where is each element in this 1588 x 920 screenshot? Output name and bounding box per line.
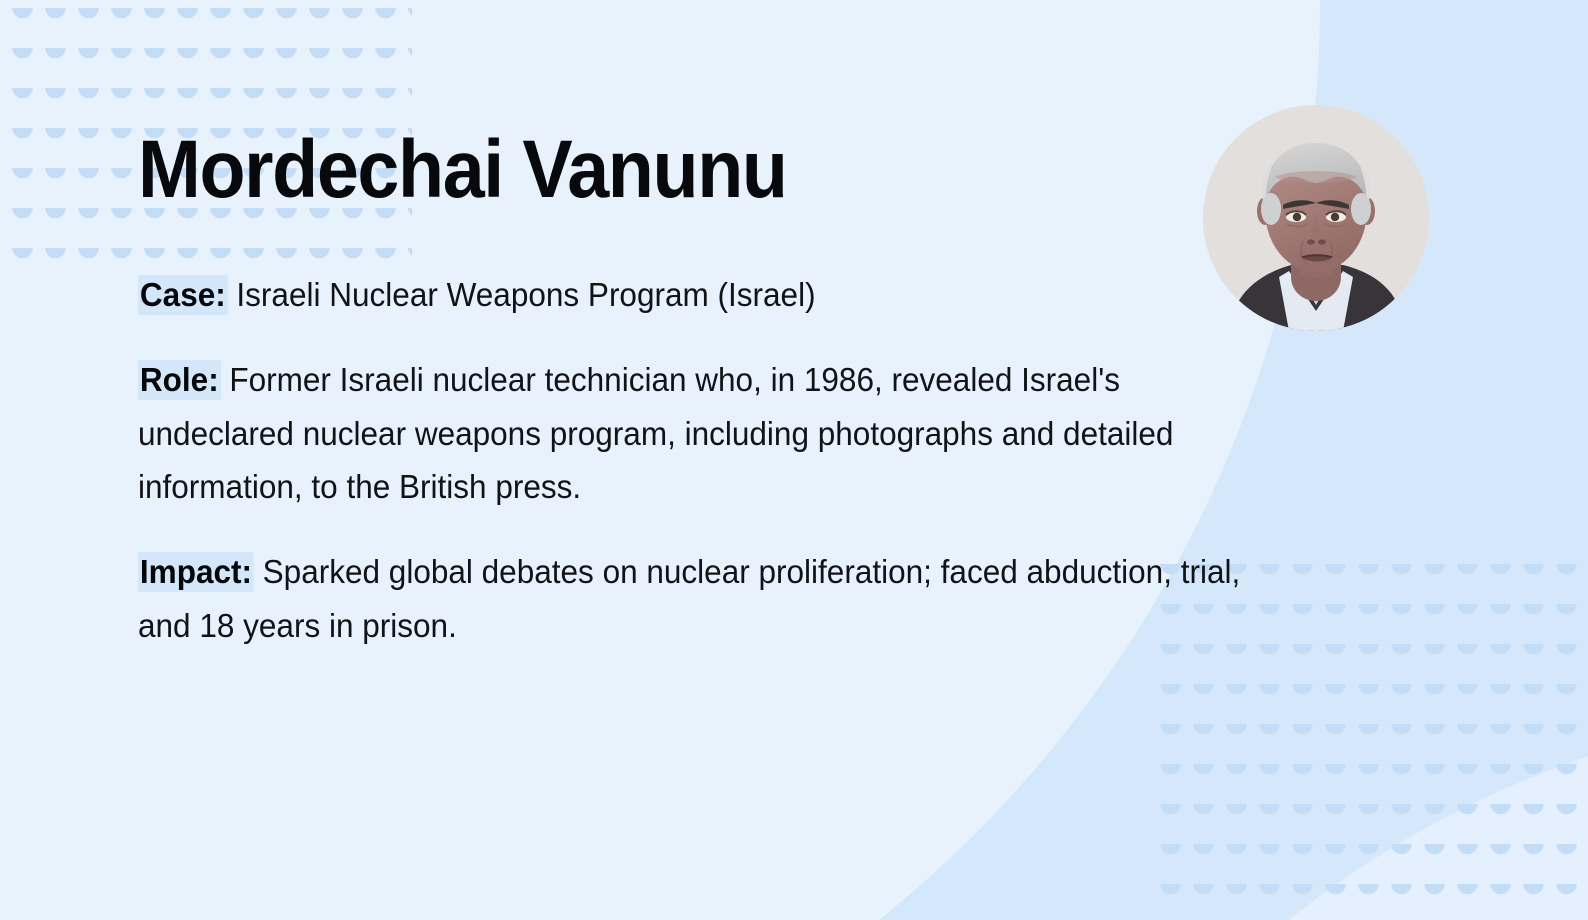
detail-list: Case: Israeli Nuclear Weapons Program (I…	[138, 268, 1328, 653]
profile-card: Mordechai Vanunu Case: Israeli Nuclear W…	[0, 0, 1588, 920]
detail-case: Case: Israeli Nuclear Weapons Program (I…	[138, 268, 1274, 321]
page-title: Mordechai Vanunu	[138, 128, 1233, 212]
detail-role-text: Former Israeli nuclear technician who, i…	[138, 361, 1173, 505]
detail-impact-label: Impact:	[138, 552, 254, 592]
detail-impact: Impact: Sparked global debates on nuclea…	[138, 545, 1274, 652]
detail-role-label: Role:	[138, 360, 221, 400]
card-content: Mordechai Vanunu Case: Israeli Nuclear W…	[138, 128, 1328, 652]
background-curve-lower-right	[980, 700, 1588, 920]
detail-case-text: Israeli Nuclear Weapons Program (Israel)	[228, 276, 816, 313]
detail-role: Role: Former Israeli nuclear technician …	[138, 353, 1274, 513]
detail-impact-text: Sparked global debates on nuclear prolif…	[138, 553, 1240, 643]
detail-case-label: Case:	[138, 275, 228, 315]
